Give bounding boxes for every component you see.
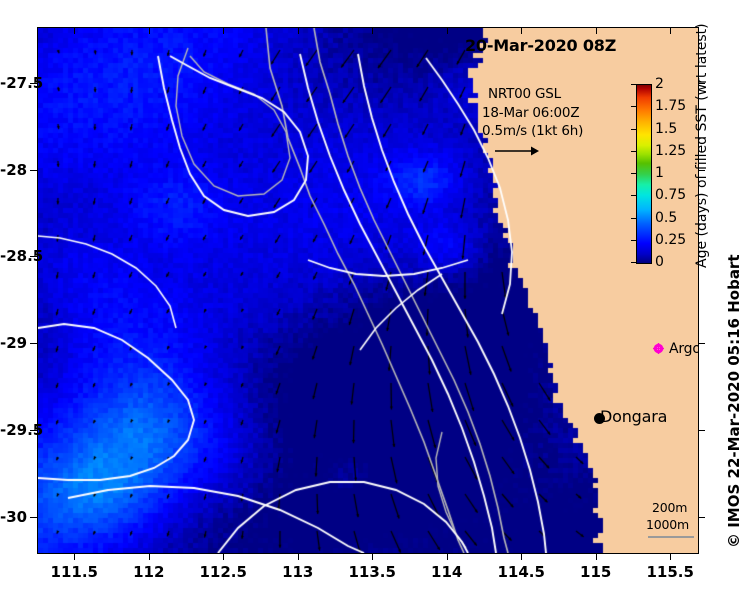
- x-tick: [372, 553, 373, 560]
- y-tick-right: [699, 430, 705, 431]
- y-tick-label: -29.5: [0, 421, 26, 439]
- depth-legend-1000m: 1000m: [646, 517, 689, 532]
- x-tick-label: 112.5: [199, 563, 246, 581]
- argo-label: Argo: [669, 341, 699, 357]
- y-tick-right: [699, 343, 705, 344]
- x-tick-label: 112: [133, 563, 164, 581]
- colorbar-tick: [631, 262, 636, 263]
- x-tick: [670, 553, 671, 560]
- depth-legend-200m: 200m: [652, 500, 687, 515]
- y-tick-label: -29: [0, 334, 26, 352]
- x-tick-label: 113.5: [348, 563, 395, 581]
- colorbar: [636, 84, 652, 264]
- credit-text: © IMOS 22-Mar-2020 05:16 Hobart: [725, 254, 739, 548]
- x-tick-top: [521, 28, 522, 34]
- annotation-product: NRT00 GSL: [488, 86, 561, 102]
- x-tick: [223, 553, 224, 560]
- colorbar-tick: [631, 151, 636, 152]
- x-tick: [521, 553, 522, 560]
- x-tick-top: [447, 28, 448, 34]
- x-tick: [298, 553, 299, 560]
- colorbar-tick-label: 1.75: [655, 98, 686, 114]
- colorbar-tick-label: 0.75: [655, 187, 686, 203]
- map-plot-area: 20-Mar-2020 08Z NRT00 GSL 18-Mar 06:00Z …: [37, 27, 699, 554]
- x-tick: [447, 553, 448, 560]
- colorbar-tick-label: 1.25: [655, 143, 686, 159]
- colorbar-gradient: [637, 85, 651, 263]
- x-tick-label: 114.5: [497, 563, 544, 581]
- x-tick-top: [74, 28, 75, 34]
- x-tick-top: [372, 28, 373, 34]
- argo-float-marker[interactable]: [653, 343, 664, 354]
- x-tick-top: [596, 28, 597, 34]
- y-tick: [30, 170, 37, 171]
- colorbar-tick-label: 0.25: [655, 232, 686, 248]
- colorbar-tick-label: 2: [655, 76, 664, 92]
- colorbar-tick: [631, 106, 636, 107]
- x-tick-label: 115.5: [646, 563, 693, 581]
- x-tick-top: [223, 28, 224, 34]
- x-tick-label: 115: [580, 563, 611, 581]
- y-tick-label: -28.5: [0, 247, 26, 265]
- x-tick: [149, 553, 150, 560]
- annotation-valid-time: 18-Mar 06:00Z: [482, 105, 579, 121]
- x-tick-top: [670, 28, 671, 34]
- colorbar-tick: [631, 173, 636, 174]
- x-tick: [74, 553, 75, 560]
- dongara-label: Dongara: [600, 407, 667, 426]
- colorbar-tick: [631, 129, 636, 130]
- y-tick: [30, 517, 37, 518]
- y-tick-label: -28: [0, 161, 26, 179]
- colorbar-tick: [631, 195, 636, 196]
- colorbar-tick: [631, 218, 636, 219]
- sst-age-map-canvas: [38, 28, 698, 553]
- colorbar-tick-label: 1: [655, 165, 664, 181]
- colorbar-tick-label: 0.5: [655, 210, 677, 226]
- colorbar-tick-label: 0: [655, 254, 664, 270]
- y-tick-label: -30: [0, 508, 26, 526]
- y-tick-label: -27.5: [0, 74, 26, 92]
- x-tick-top: [298, 28, 299, 34]
- colorbar-title: Age (days) of filled SST (wrt latest): [694, 23, 710, 268]
- y-tick-right: [699, 517, 705, 518]
- x-tick-label: 113: [282, 563, 313, 581]
- x-tick-top: [149, 28, 150, 34]
- colorbar-tick-label: 1.5: [655, 121, 677, 137]
- figure-root: 20-Mar-2020 08Z NRT00 GSL 18-Mar 06:00Z …: [0, 0, 739, 592]
- x-tick-label: 111.5: [51, 563, 98, 581]
- annotation-vector-scale: 0.5m/s (1kt 6h): [482, 123, 583, 139]
- depth-legend-rule: [648, 536, 694, 538]
- colorbar-tick: [631, 84, 636, 85]
- y-tick: [30, 343, 37, 344]
- colorbar-tick: [631, 240, 636, 241]
- right-arrow-icon: [493, 144, 541, 158]
- x-tick: [596, 553, 597, 560]
- map-title-date: 20-Mar-2020 08Z: [465, 36, 616, 55]
- x-tick-label: 114: [431, 563, 462, 581]
